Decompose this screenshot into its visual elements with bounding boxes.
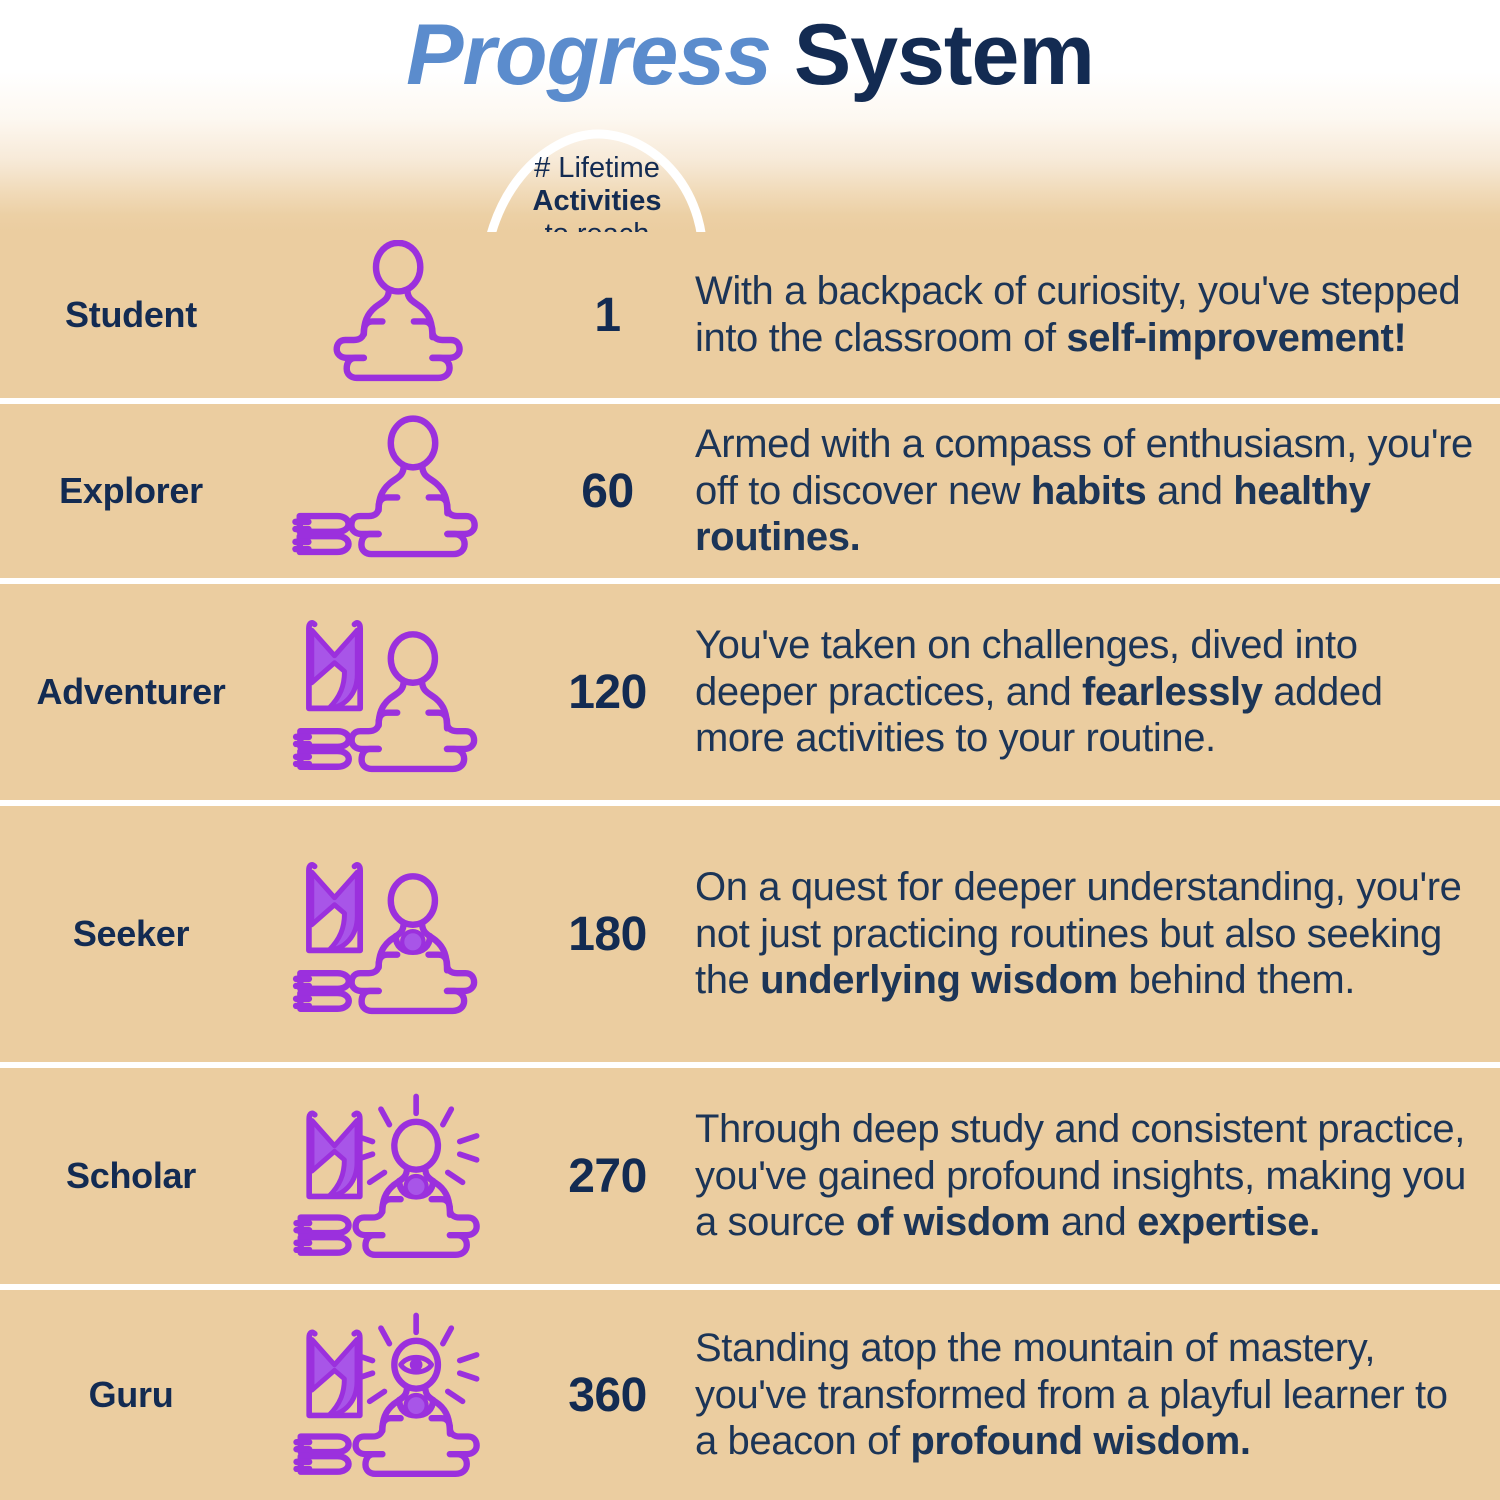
meditating-figure-icon [262,240,520,390]
table-row: Scholar [0,1068,1500,1290]
table-row: Student 1 With a backpack of curiosity, … [0,232,1500,404]
level-description: With a backpack of curiosity, you've ste… [695,268,1500,362]
level-count: 1 [520,288,695,343]
meditating-figure-with-third-eye-icon [262,1300,520,1490]
callout-line-2: Activities [492,185,702,218]
page-title-main: System [771,7,1094,103]
levels-table: Student 1 With a backpack of curiosity, … [0,232,1500,1500]
level-name: Student [0,294,262,336]
table-row: Explorer [0,404,1500,584]
meditating-figure-with-books-and-plant-icon [262,603,520,781]
level-name: Guru [0,1374,262,1416]
meditating-figure-with-sun-rays-icon [262,1081,520,1271]
level-count: 360 [520,1368,695,1423]
level-name: Adventurer [0,671,262,713]
meditating-figure-with-heart-orb-icon [262,845,520,1023]
level-description: Standing atop the mountain of mastery, y… [695,1325,1500,1465]
level-count: 120 [520,665,695,720]
level-count: 270 [520,1149,695,1204]
level-description: On a quest for deeper understanding, you… [695,864,1500,1004]
progress-system-infographic: Progress System # Lifetime Activities to… [0,0,1500,1500]
level-count: 180 [520,907,695,962]
page-title: Progress System [0,6,1500,105]
table-row: Guru [0,1290,1500,1500]
level-description: Through deep study and consistent practi… [695,1106,1500,1246]
level-description: You've taken on challenges, dived into d… [695,622,1500,762]
level-name: Explorer [0,470,262,512]
page-title-accent: Progress [406,7,771,103]
table-row: Adventurer [0,584,1500,806]
level-name: Scholar [0,1155,262,1197]
level-name: Seeker [0,913,262,955]
callout-line-1: # Lifetime [492,152,702,185]
meditating-figure-with-books-icon [262,411,520,571]
level-description: Armed with a compass of enthusiasm, you'… [695,421,1500,561]
level-count: 60 [520,464,695,519]
table-row: Seeker [0,806,1500,1068]
